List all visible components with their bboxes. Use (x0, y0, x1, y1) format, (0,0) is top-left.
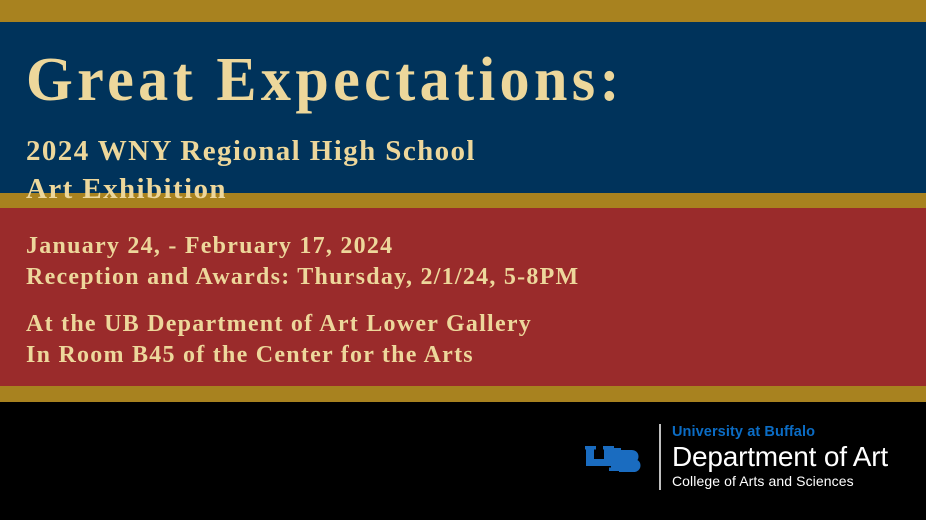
subtitle-line-1: 2024 WNY Regional High School (26, 132, 476, 170)
logo-department-name: Department of Art (672, 441, 888, 472)
venue-block: At the UB Department of Art Lower Galler… (26, 309, 532, 371)
subtitle-line-2: Art Exhibition (26, 170, 476, 208)
venue-line-1: At the UB Department of Art Lower Galler… (26, 309, 532, 340)
page-title: Great Expectations: (26, 48, 624, 112)
date-block: January 24, - February 17, 2024 Receptio… (26, 231, 579, 293)
venue-line-2: In Room B45 of the Center for the Arts (26, 340, 532, 371)
logo-wordmark: University at Buffalo Department of Art … (672, 424, 888, 490)
logo-university-name: University at Buffalo (672, 424, 888, 441)
logo-college-name: College of Arts and Sciences (672, 472, 888, 490)
logo-divider (659, 424, 661, 490)
ub-monogram-icon (585, 436, 647, 478)
details-section: January 24, - February 17, 2024 Receptio… (0, 208, 926, 386)
reception-info: Reception and Awards: Thursday, 2/1/24, … (26, 262, 579, 293)
ub-logo: University at Buffalo Department of Art … (585, 424, 888, 490)
logo-section: University at Buffalo Department of Art … (0, 402, 926, 520)
page-subtitle: 2024 WNY Regional High School Art Exhibi… (26, 132, 476, 208)
title-section: Great Expectations: 2024 WNY Regional Hi… (0, 22, 926, 193)
event-poster: Great Expectations: 2024 WNY Regional Hi… (0, 0, 926, 520)
exhibition-dates: January 24, - February 17, 2024 (26, 231, 579, 262)
bottom-gold-band (0, 386, 926, 402)
top-gold-band (0, 0, 926, 22)
